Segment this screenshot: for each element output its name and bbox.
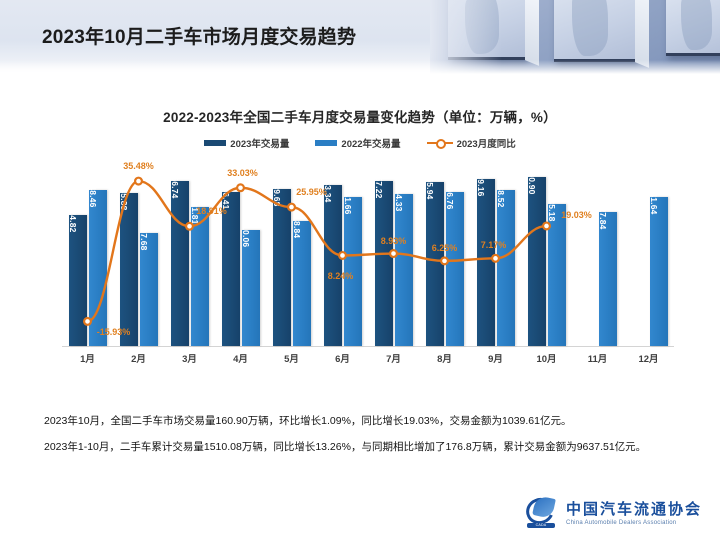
bar-group: 155.94146.76 (419, 162, 470, 346)
x-axis-labels: 1月2月3月4月5月6月7月8月9月10月11月12月 (62, 351, 674, 369)
legend-item-yoy-line[interactable]: 2023月度同比 (427, 136, 516, 150)
footer-org-name-cn: 中国汽车流通协会 (566, 498, 702, 519)
association-logo-icon: CADA (525, 496, 559, 528)
bar-group: 157.22144.33 (368, 162, 419, 346)
x-axis-tick: 11月 (572, 351, 623, 369)
bar-2023年交易量[interactable]: 153.34 (324, 185, 342, 346)
legend-item-2022-volume[interactable]: 2022年交易量 (315, 136, 400, 150)
bar-value-label: 148.52 (496, 180, 506, 207)
x-axis-tick: 2月 (113, 351, 164, 369)
bar-2022年交易量[interactable]: 148.46 (89, 190, 107, 346)
bar-value-label: 160.90 (527, 167, 537, 194)
bar-2023年交易量[interactable]: 146.41 (222, 192, 240, 346)
bar-2022年交易量[interactable]: 127.84 (599, 212, 617, 346)
bar-2023年交易量[interactable]: 160.90 (528, 177, 546, 346)
legend-label-yoy: 2023月度同比 (457, 136, 516, 150)
bar-group: 156.74131.81 (164, 162, 215, 346)
bar-2022年交易量[interactable]: 141.64 (650, 197, 668, 346)
footer-logo: CADA 中国汽车流通协会 China Automobile Dealers A… (525, 496, 702, 528)
bar-value-label: 131.81 (190, 198, 200, 225)
decorative-cube-icon (554, 0, 636, 62)
x-axis-line (62, 346, 674, 347)
bar-group: 159.16148.52 (470, 162, 521, 346)
bar-group: 145.88107.68 (113, 162, 164, 346)
bar-value-label: 156.74 (170, 172, 180, 199)
page-title: 2023年10月二手车市场月度交易趋势 (42, 22, 356, 49)
bar-2022年交易量[interactable]: 131.81 (191, 207, 209, 346)
bar-value-label: 144.33 (394, 185, 404, 212)
bar-2022年交易量[interactable]: 135.18 (548, 204, 566, 346)
bar-value-label: 153.34 (323, 175, 333, 202)
x-axis-tick: 6月 (317, 351, 368, 369)
legend-swatch-2022 (315, 140, 337, 146)
bar-2022年交易量[interactable]: 110.06 (242, 230, 260, 346)
bar-value-label: 157.22 (374, 171, 384, 198)
bar-2022年交易量[interactable]: 141.66 (344, 197, 362, 346)
legend-line-marker-icon (427, 139, 453, 148)
bar-value-label: 110.06 (241, 221, 251, 248)
bar-value-label: 135.18 (547, 194, 557, 221)
footer-org-name-en: China Automobile Dealers Association (566, 520, 702, 526)
bar-value-label: 127.84 (598, 202, 608, 229)
chart-title: 2022-2023年全国二手车月度交易量变化趋势（单位：万辆，%） (0, 106, 720, 126)
bar-value-label: 124.82 (68, 205, 78, 232)
x-axis-tick: 5月 (266, 351, 317, 369)
chart-legend: 2023年交易量 2022年交易量 2023月度同比 (0, 136, 720, 150)
x-axis-tick: 8月 (419, 351, 470, 369)
bar-groups: 124.82148.46145.88107.68156.74131.81146.… (62, 162, 674, 346)
x-axis-tick: 7月 (368, 351, 419, 369)
x-axis-tick: 12月 (623, 351, 674, 369)
bar-value-label: 155.94 (425, 172, 435, 199)
decorative-cube-icon (666, 0, 720, 56)
bar-group: 141.64 (623, 162, 674, 346)
summary-paragraph-2: 2023年1-10月，二手车累计交易量1510.08万辆，同比增长13.26%，… (44, 434, 684, 460)
bar-2022年交易量[interactable]: 146.76 (446, 192, 464, 346)
bar-group: 124.82148.46 (62, 162, 113, 346)
bar-group: 160.90135.18 (521, 162, 572, 346)
slide: 2023年10月二手车市场月度交易趋势 2022-2023年全国二手车月度交易量… (0, 0, 720, 540)
legend-label-2022: 2022年交易量 (341, 136, 400, 150)
logo-abbr: CADA (527, 523, 555, 528)
x-axis-tick: 3月 (164, 351, 215, 369)
bar-2022年交易量[interactable]: 107.68 (140, 233, 158, 346)
x-axis-tick: 9月 (470, 351, 521, 369)
bar-2023年交易量[interactable]: 157.22 (375, 181, 393, 346)
bar-value-label: 118.84 (292, 212, 302, 239)
bar-group: 127.84 (572, 162, 623, 346)
bar-value-label: 149.68 (272, 179, 282, 206)
bar-group: 146.41110.06 (215, 162, 266, 346)
bar-2023年交易量[interactable]: 149.68 (273, 189, 291, 346)
legend-swatch-2023 (204, 140, 226, 146)
summary-paragraph-1: 2023年10月，全国二手车市场交易量160.90万辆，环比增长1.09%，同比… (44, 408, 684, 434)
bar-value-label: 148.46 (88, 180, 98, 207)
chart-plot-area: 124.82148.46145.88107.68156.74131.81146.… (62, 162, 674, 347)
bar-2023年交易量[interactable]: 124.82 (69, 215, 87, 346)
bar-value-label: 159.16 (476, 169, 486, 196)
bar-group: 149.68118.84 (266, 162, 317, 346)
bar-value-label: 107.68 (139, 223, 149, 250)
legend-label-2023: 2023年交易量 (230, 136, 289, 150)
bar-value-label: 145.88 (119, 183, 129, 210)
x-axis-tick: 4月 (215, 351, 266, 369)
bar-2022年交易量[interactable]: 148.52 (497, 190, 515, 346)
bar-value-label: 146.41 (221, 182, 231, 209)
bar-value-label: 141.64 (649, 187, 659, 214)
bar-2023年交易量[interactable]: 145.88 (120, 193, 138, 346)
summary-text: 2023年10月，全国二手车市场交易量160.90万辆，环比增长1.09%，同比… (44, 408, 684, 460)
legend-item-2023-volume[interactable]: 2023年交易量 (204, 136, 289, 150)
bar-value-label: 146.76 (445, 182, 455, 209)
bar-value-label: 141.66 (343, 187, 353, 214)
bar-group: 153.34141.66 (317, 162, 368, 346)
bar-2022年交易量[interactable]: 118.84 (293, 221, 311, 346)
bar-2022年交易量[interactable]: 144.33 (395, 194, 413, 346)
x-axis-tick: 10月 (521, 351, 572, 369)
bar-2023年交易量[interactable]: 155.94 (426, 182, 444, 346)
bar-2023年交易量[interactable]: 159.16 (477, 179, 495, 346)
bar-2023年交易量[interactable]: 156.74 (171, 181, 189, 346)
x-axis-tick: 1月 (62, 351, 113, 369)
